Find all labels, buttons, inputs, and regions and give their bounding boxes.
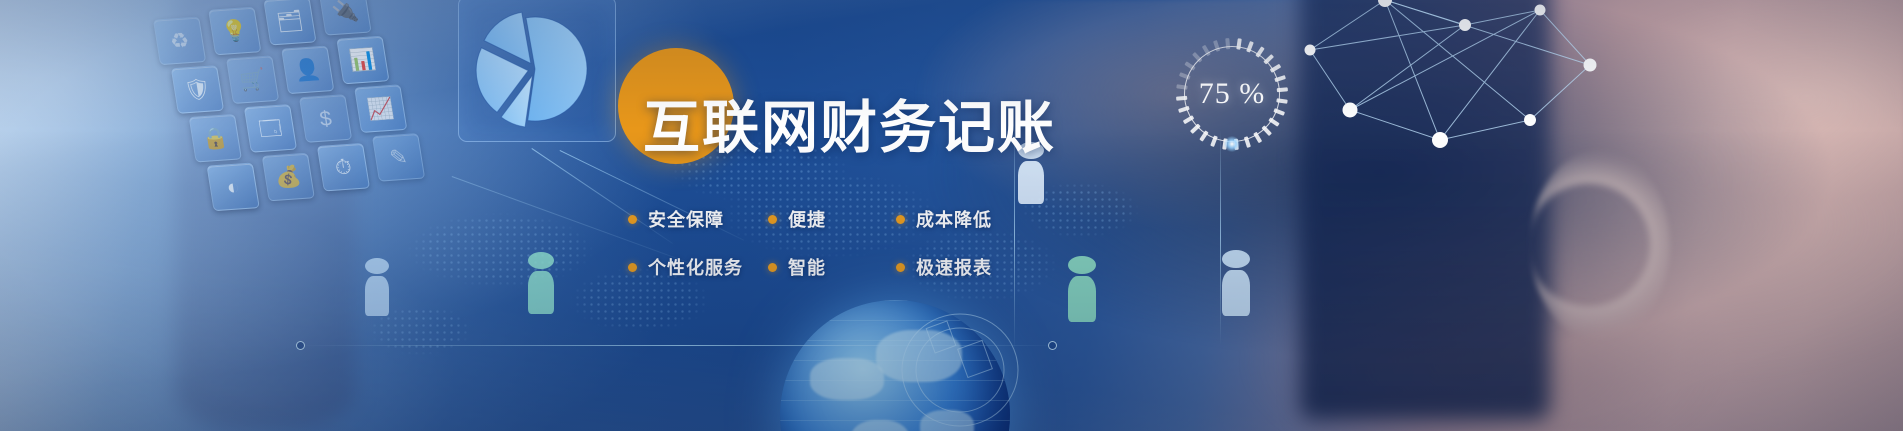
icon-cube-7: 👤 xyxy=(281,45,334,94)
feature-tag-convenient[interactable]: 便捷 xyxy=(768,206,896,232)
icon-cube-3: 🗂 xyxy=(263,0,316,45)
network-nodes-graphic xyxy=(1290,0,1620,200)
rail-node xyxy=(1048,341,1057,350)
feature-tag-personalized-service[interactable]: 个性化服务 xyxy=(628,254,768,280)
icon-cube-grid: ♻💡🗂🔌🛡🛒👤📊🔒🗔$📈◐💰⏱✎ xyxy=(153,3,427,232)
person-silhouette xyxy=(528,252,554,314)
icon-cube-13: ◐ xyxy=(207,163,260,212)
headline-block: 互联网财务记账 安全保障 便捷 成本降低 个性化服务 xyxy=(618,48,1238,268)
rail-node xyxy=(296,341,305,350)
feature-tag-label: 个性化服务 xyxy=(648,254,743,280)
bullet-dot-icon xyxy=(768,263,777,272)
pie-chart-panel xyxy=(458,0,616,142)
icon-cube-8: 📊 xyxy=(336,36,389,85)
bullet-dot-icon xyxy=(768,215,777,224)
bullet-dot-icon xyxy=(896,263,905,272)
icon-cube-12: 📈 xyxy=(354,84,407,133)
icon-cube-5: 🛡 xyxy=(171,65,224,114)
icon-cube-14: 💰 xyxy=(262,153,315,202)
icon-cube-16: ✎ xyxy=(372,133,425,182)
marketing-banner: ♻💡🗂🔌🛡🛒👤📊🔒🗔$📈◐💰⏱✎ xyxy=(0,0,1903,431)
feature-tag-cost-reduction[interactable]: 成本降低 xyxy=(896,206,992,232)
bottom-rail xyxy=(300,345,1060,346)
feature-tag-fast-reports[interactable]: 极速报表 xyxy=(896,254,992,280)
bullet-dot-icon xyxy=(896,215,905,224)
icon-cube-9: 🔒 xyxy=(189,114,242,163)
icon-cube-4: 🔌 xyxy=(318,0,371,36)
icon-cube-10: 🗔 xyxy=(244,104,297,153)
bullet-dot-icon xyxy=(628,263,637,272)
globe-continent xyxy=(810,358,884,400)
pie-slice-1 xyxy=(526,17,587,121)
icon-cube-11: $ xyxy=(299,94,352,143)
feature-tag-security[interactable]: 安全保障 xyxy=(628,206,768,232)
feature-tag-row: 安全保障 便捷 成本降低 xyxy=(628,206,1228,232)
person-silhouette xyxy=(365,258,389,316)
icon-cube-15: ⏱ xyxy=(317,143,370,192)
feature-tag-row: 个性化服务 智能 极速报表 xyxy=(628,254,1228,280)
pie-chart xyxy=(471,5,599,133)
feature-tag-label: 智能 xyxy=(788,254,826,280)
icon-cube-1: ♻ xyxy=(153,17,206,66)
feature-tag-intelligent[interactable]: 智能 xyxy=(768,254,896,280)
feature-tag-label: 安全保障 xyxy=(648,206,724,232)
bullet-dot-icon xyxy=(628,215,637,224)
icon-cube-6: 🛒 xyxy=(226,55,279,104)
icon-cube-2: 💡 xyxy=(208,7,261,56)
page-title: 互联网财务记账 xyxy=(643,82,1056,164)
feature-tag-label: 成本降低 xyxy=(916,206,992,232)
feature-tag-list: 安全保障 便捷 成本降低 个性化服务 智能 xyxy=(628,206,1228,302)
feature-tag-label: 便捷 xyxy=(788,206,826,232)
feature-tag-label: 极速报表 xyxy=(916,254,992,280)
